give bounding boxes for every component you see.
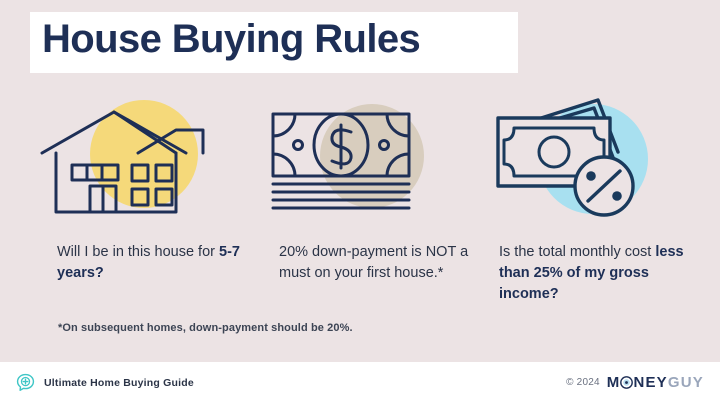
column-text-1: Will I be in this house for 5-7 years? — [57, 242, 252, 284]
footnote: *On subsequent homes, down-payment shoul… — [58, 322, 353, 334]
column-2-line-1: 20% down-payment is — [279, 244, 422, 260]
footer-brand-group[interactable]: Ultimate Home Buying Guide — [16, 373, 194, 392]
dollar-bill-stack-icon — [252, 92, 452, 222]
icon-cell-money — [252, 92, 452, 222]
infographic-canvas: House Buying Rules — [0, 0, 720, 404]
plus-bubble-icon — [16, 373, 35, 392]
house-icon — [28, 92, 228, 222]
target-o-icon — [620, 376, 633, 389]
brand-letter-m: M — [607, 374, 621, 391]
footer-guide-label: Ultimate Home Buying Guide — [44, 377, 194, 389]
column-1-line-2-prefix: for — [198, 244, 219, 260]
icon-cell-percent — [476, 92, 676, 222]
column-3-line-2-prefix: cost — [625, 244, 656, 260]
brand-letters-ney: NEY — [633, 374, 667, 391]
column-1-line-1: Will I be in this house — [57, 244, 194, 260]
copyright-text: © 2024 — [566, 377, 600, 388]
column-text-2: 20% down-payment is NOT a must on your f… — [279, 242, 479, 284]
column-2-line-3: first house.* — [367, 265, 444, 281]
column-text-3: Is the total monthly cost less than 25% … — [499, 242, 697, 305]
page-title: House Buying Rules — [42, 14, 512, 64]
icon-cell-house — [28, 92, 228, 222]
cash-percent-icon — [476, 92, 676, 222]
column-3-line-1: Is the total monthly — [499, 244, 621, 260]
moneyguy-logo[interactable]: M NEY GUY — [607, 374, 704, 391]
brand-letters-guy: GUY — [668, 374, 704, 391]
footer-bar: Ultimate Home Buying Guide © 2024 M NEY … — [0, 362, 720, 404]
footer-copyright-group: © 2024 M NEY GUY — [566, 374, 704, 391]
